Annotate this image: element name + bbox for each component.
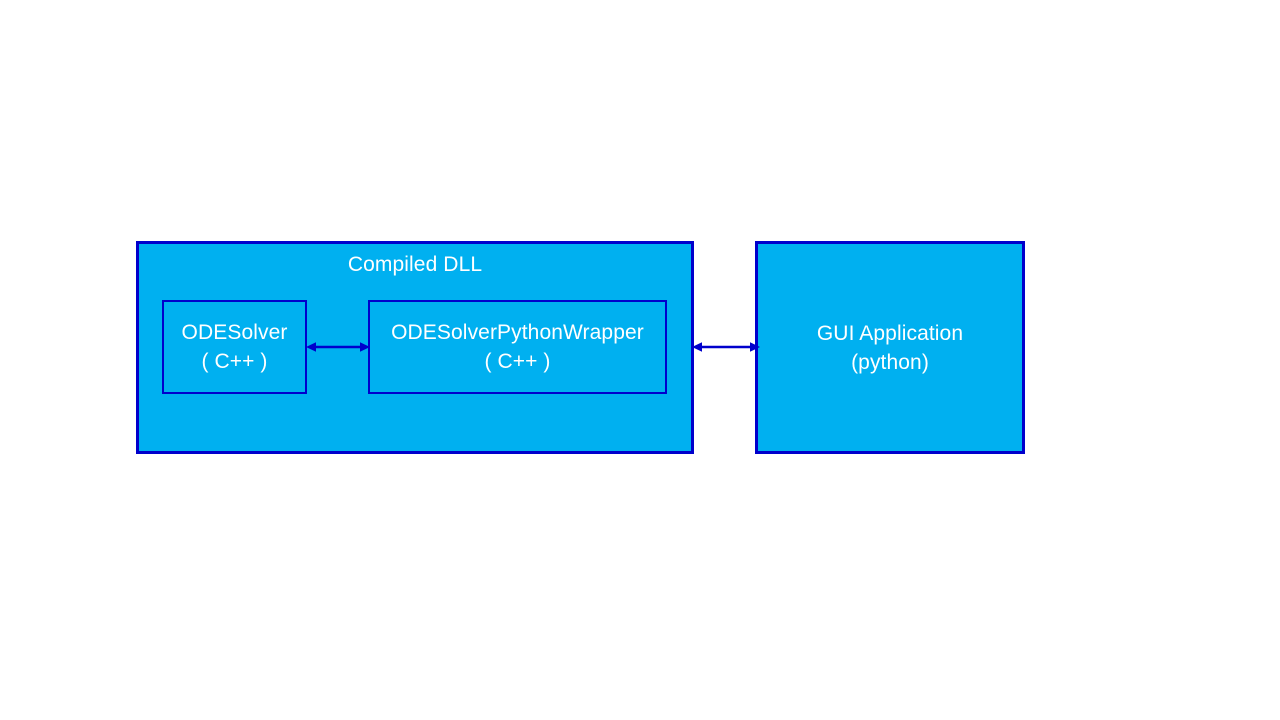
diagram-canvas: Compiled DLL ODESolver ( C++ ) ODESolver… xyxy=(0,0,1280,720)
gui-application-label-language: (python) xyxy=(851,348,929,377)
odesolver-box[interactable]: ODESolver ( C++ ) xyxy=(162,300,307,394)
odesolver-python-wrapper-label-name: ODESolverPythonWrapper xyxy=(391,318,644,347)
odesolver-python-wrapper-box[interactable]: ODESolverPythonWrapper ( C++ ) xyxy=(368,300,667,394)
compiled-dll-title: Compiled DLL xyxy=(136,251,694,279)
odesolver-label-language: ( C++ ) xyxy=(201,347,267,376)
double-arrow-icon-odesolver-to-wrapper xyxy=(305,333,371,361)
double-arrow-icon-dll-to-gui xyxy=(691,333,761,361)
gui-application-box[interactable]: GUI Application (python) xyxy=(755,241,1025,454)
odesolver-python-wrapper-label-language: ( C++ ) xyxy=(484,347,550,376)
odesolver-label-name: ODESolver xyxy=(182,318,288,347)
gui-application-label-name: GUI Application xyxy=(817,319,963,348)
